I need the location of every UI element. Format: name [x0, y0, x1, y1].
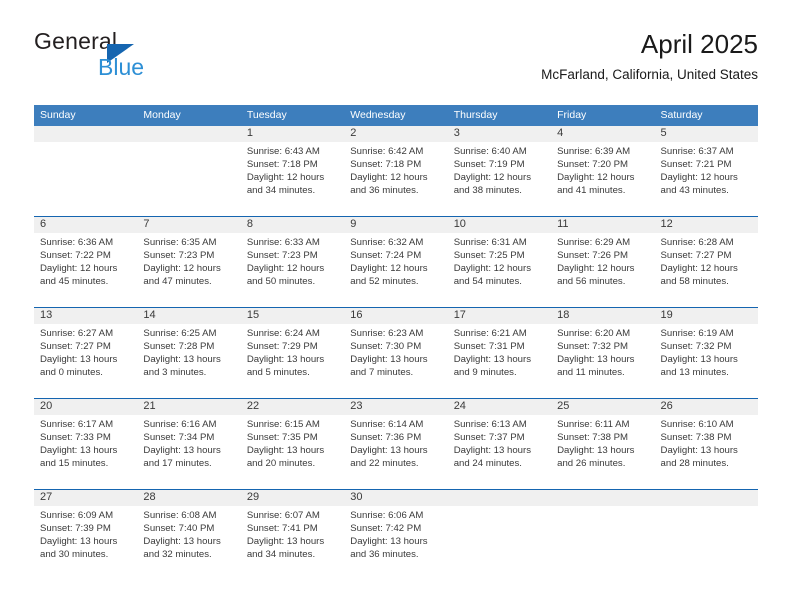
day-detail-line: Sunset: 7:18 PM — [247, 158, 341, 171]
day-detail-line: Daylight: 13 hours — [557, 353, 651, 366]
day-details: Sunrise: 6:27 AMSunset: 7:27 PMDaylight:… — [40, 327, 134, 379]
day-details: Sunrise: 6:42 AMSunset: 7:18 PMDaylight:… — [350, 145, 444, 197]
day-number: 18 — [557, 308, 651, 324]
calendar-day-cell[interactable]: 20Sunrise: 6:17 AMSunset: 7:33 PMDayligh… — [34, 399, 137, 489]
day-detail-line: and 54 minutes. — [454, 275, 548, 288]
day-detail-line: Sunset: 7:24 PM — [350, 249, 444, 262]
calendar-week-row: 20Sunrise: 6:17 AMSunset: 7:33 PMDayligh… — [34, 398, 758, 489]
day-details: Sunrise: 6:06 AMSunset: 7:42 PMDaylight:… — [350, 509, 444, 561]
day-detail-line: and 36 minutes. — [350, 184, 444, 197]
day-detail-line: and 41 minutes. — [557, 184, 651, 197]
calendar-empty-cell — [655, 490, 758, 580]
day-detail-line: Sunrise: 6:06 AM — [350, 509, 444, 522]
day-detail-line: Daylight: 13 hours — [247, 535, 341, 548]
day-detail-line: and 9 minutes. — [454, 366, 548, 379]
day-detail-line: Sunrise: 6:21 AM — [454, 327, 548, 340]
day-detail-line: Daylight: 13 hours — [40, 535, 134, 548]
day-number: 27 — [40, 490, 134, 506]
day-detail-line: Sunset: 7:32 PM — [661, 340, 755, 353]
calendar-day-cell[interactable]: 15Sunrise: 6:24 AMSunset: 7:29 PMDayligh… — [241, 308, 344, 398]
day-details: Sunrise: 6:32 AMSunset: 7:24 PMDaylight:… — [350, 236, 444, 288]
day-details: Sunrise: 6:23 AMSunset: 7:30 PMDaylight:… — [350, 327, 444, 379]
day-detail-line: and 11 minutes. — [557, 366, 651, 379]
day-detail-line: and 58 minutes. — [661, 275, 755, 288]
day-detail-line: Daylight: 13 hours — [350, 535, 444, 548]
day-details: Sunrise: 6:07 AMSunset: 7:41 PMDaylight:… — [247, 509, 341, 561]
calendar-empty-cell — [551, 490, 654, 580]
day-detail-line: and 17 minutes. — [143, 457, 237, 470]
day-detail-line: Sunrise: 6:37 AM — [661, 145, 755, 158]
calendar-week-cells: 1Sunrise: 6:43 AMSunset: 7:18 PMDaylight… — [34, 126, 758, 216]
calendar-week-cells: 27Sunrise: 6:09 AMSunset: 7:39 PMDayligh… — [34, 490, 758, 580]
day-detail-line: Daylight: 13 hours — [661, 444, 755, 457]
day-detail-line: Daylight: 13 hours — [40, 353, 134, 366]
day-detail-line: Sunrise: 6:29 AM — [557, 236, 651, 249]
day-detail-line: Sunrise: 6:40 AM — [454, 145, 548, 158]
day-detail-line: Daylight: 12 hours — [247, 171, 341, 184]
day-number: 24 — [454, 399, 548, 415]
day-details: Sunrise: 6:39 AMSunset: 7:20 PMDaylight:… — [557, 145, 651, 197]
day-detail-line: Daylight: 12 hours — [557, 171, 651, 184]
day-detail-line: Sunrise: 6:09 AM — [40, 509, 134, 522]
day-detail-line: and 38 minutes. — [454, 184, 548, 197]
brand-name-general: General — [34, 28, 117, 54]
day-detail-line: and 0 minutes. — [40, 366, 134, 379]
day-detail-line: Sunrise: 6:13 AM — [454, 418, 548, 431]
calendar-day-cell[interactable]: 29Sunrise: 6:07 AMSunset: 7:41 PMDayligh… — [241, 490, 344, 580]
day-detail-line: Daylight: 13 hours — [350, 444, 444, 457]
day-detail-line: and 5 minutes. — [247, 366, 341, 379]
calendar-week-cells: 13Sunrise: 6:27 AMSunset: 7:27 PMDayligh… — [34, 308, 758, 398]
page-title: April 2025 — [541, 28, 758, 60]
day-detail-line: Sunrise: 6:27 AM — [40, 327, 134, 340]
calendar-day-cell[interactable]: 18Sunrise: 6:20 AMSunset: 7:32 PMDayligh… — [551, 308, 654, 398]
calendar-week-row: 27Sunrise: 6:09 AMSunset: 7:39 PMDayligh… — [34, 489, 758, 580]
day-detail-line: and 43 minutes. — [661, 184, 755, 197]
day-number: 20 — [40, 399, 134, 415]
day-detail-line: Daylight: 12 hours — [40, 262, 134, 275]
day-detail-line: and 50 minutes. — [247, 275, 341, 288]
day-details: Sunrise: 6:20 AMSunset: 7:32 PMDaylight:… — [557, 327, 651, 379]
calendar-week-cells: 6Sunrise: 6:36 AMSunset: 7:22 PMDaylight… — [34, 217, 758, 307]
day-detail-line: Sunset: 7:21 PM — [661, 158, 755, 171]
weekday-header-saturday: Saturday — [655, 105, 758, 126]
weekday-header-thursday: Thursday — [448, 105, 551, 126]
day-detail-line: and 15 minutes. — [40, 457, 134, 470]
weekday-header-row: SundayMondayTuesdayWednesdayThursdayFrid… — [34, 105, 758, 126]
day-number: 9 — [350, 217, 444, 233]
day-detail-line: Sunrise: 6:07 AM — [247, 509, 341, 522]
day-detail-line: Daylight: 13 hours — [143, 353, 237, 366]
day-number: 5 — [661, 126, 755, 142]
day-detail-line: and 20 minutes. — [247, 457, 341, 470]
calendar-day-cell[interactable]: 27Sunrise: 6:09 AMSunset: 7:39 PMDayligh… — [34, 490, 137, 580]
weekday-header-wednesday: Wednesday — [344, 105, 447, 126]
day-detail-line: and 32 minutes. — [143, 548, 237, 561]
day-number: 7 — [143, 217, 237, 233]
calendar-day-cell[interactable]: 4Sunrise: 6:39 AMSunset: 7:20 PMDaylight… — [551, 126, 654, 216]
day-number — [143, 126, 237, 142]
day-detail-line: and 47 minutes. — [143, 275, 237, 288]
weekday-header-monday: Monday — [137, 105, 240, 126]
day-number: 22 — [247, 399, 341, 415]
day-number — [557, 490, 651, 506]
calendar-day-cell[interactable]: 16Sunrise: 6:23 AMSunset: 7:30 PMDayligh… — [344, 308, 447, 398]
day-detail-line: Sunset: 7:41 PM — [247, 522, 341, 535]
day-number: 21 — [143, 399, 237, 415]
day-detail-line: Sunset: 7:35 PM — [247, 431, 341, 444]
weekday-header-sunday: Sunday — [34, 105, 137, 126]
day-detail-line: and 52 minutes. — [350, 275, 444, 288]
day-detail-line: Daylight: 13 hours — [143, 444, 237, 457]
weekday-header-friday: Friday — [551, 105, 654, 126]
day-detail-line: Daylight: 13 hours — [661, 353, 755, 366]
calendar-day-cell[interactable]: 5Sunrise: 6:37 AMSunset: 7:21 PMDaylight… — [655, 126, 758, 216]
day-detail-line: Sunset: 7:36 PM — [350, 431, 444, 444]
day-detail-line: Sunrise: 6:17 AM — [40, 418, 134, 431]
day-detail-line: and 26 minutes. — [557, 457, 651, 470]
day-detail-line: and 34 minutes. — [247, 548, 341, 561]
calendar-day-cell[interactable]: 25Sunrise: 6:11 AMSunset: 7:38 PMDayligh… — [551, 399, 654, 489]
day-number: 3 — [454, 126, 548, 142]
day-detail-line: Daylight: 13 hours — [247, 353, 341, 366]
calendar-page: General Blue April 2025 McFarland, Calif… — [0, 0, 792, 612]
day-detail-line: Sunrise: 6:28 AM — [661, 236, 755, 249]
page-subtitle: McFarland, California, United States — [541, 66, 758, 83]
day-details: Sunrise: 6:17 AMSunset: 7:33 PMDaylight:… — [40, 418, 134, 470]
day-detail-line: Sunrise: 6:23 AM — [350, 327, 444, 340]
day-detail-line: Daylight: 12 hours — [143, 262, 237, 275]
calendar-weeks: 1Sunrise: 6:43 AMSunset: 7:18 PMDaylight… — [34, 126, 758, 580]
day-detail-line: Sunrise: 6:43 AM — [247, 145, 341, 158]
day-detail-line: Sunset: 7:22 PM — [40, 249, 134, 262]
day-number: 19 — [661, 308, 755, 324]
calendar-week-cells: 20Sunrise: 6:17 AMSunset: 7:33 PMDayligh… — [34, 399, 758, 489]
day-detail-line: Sunset: 7:34 PM — [143, 431, 237, 444]
day-detail-line: Daylight: 12 hours — [661, 262, 755, 275]
calendar-day-cell[interactable]: 6Sunrise: 6:36 AMSunset: 7:22 PMDaylight… — [34, 217, 137, 307]
calendar-day-cell[interactable]: 30Sunrise: 6:06 AMSunset: 7:42 PMDayligh… — [344, 490, 447, 580]
day-number: 12 — [661, 217, 755, 233]
day-detail-line: Daylight: 12 hours — [557, 262, 651, 275]
calendar-day-cell[interactable]: 24Sunrise: 6:13 AMSunset: 7:37 PMDayligh… — [448, 399, 551, 489]
day-detail-line: Sunset: 7:33 PM — [40, 431, 134, 444]
day-detail-line: Sunset: 7:42 PM — [350, 522, 444, 535]
calendar-day-cell[interactable]: 3Sunrise: 6:40 AMSunset: 7:19 PMDaylight… — [448, 126, 551, 216]
day-details: Sunrise: 6:21 AMSunset: 7:31 PMDaylight:… — [454, 327, 548, 379]
day-detail-line: and 24 minutes. — [454, 457, 548, 470]
day-details: Sunrise: 6:29 AMSunset: 7:26 PMDaylight:… — [557, 236, 651, 288]
weekday-header-tuesday: Tuesday — [241, 105, 344, 126]
day-number: 14 — [143, 308, 237, 324]
day-number: 11 — [557, 217, 651, 233]
day-detail-line: and 22 minutes. — [350, 457, 444, 470]
day-details: Sunrise: 6:25 AMSunset: 7:28 PMDaylight:… — [143, 327, 237, 379]
calendar-day-cell[interactable]: 28Sunrise: 6:08 AMSunset: 7:40 PMDayligh… — [137, 490, 240, 580]
day-detail-line: Sunset: 7:26 PM — [557, 249, 651, 262]
day-number: 8 — [247, 217, 341, 233]
day-detail-line: Sunset: 7:20 PM — [557, 158, 651, 171]
day-detail-line: Sunset: 7:25 PM — [454, 249, 548, 262]
day-detail-line: Sunrise: 6:24 AM — [247, 327, 341, 340]
day-details: Sunrise: 6:16 AMSunset: 7:34 PMDaylight:… — [143, 418, 237, 470]
day-detail-line: Daylight: 13 hours — [454, 444, 548, 457]
day-detail-line: Daylight: 12 hours — [350, 171, 444, 184]
day-details: Sunrise: 6:09 AMSunset: 7:39 PMDaylight:… — [40, 509, 134, 561]
day-number: 28 — [143, 490, 237, 506]
calendar-day-cell[interactable]: 14Sunrise: 6:25 AMSunset: 7:28 PMDayligh… — [137, 308, 240, 398]
day-details: Sunrise: 6:43 AMSunset: 7:18 PMDaylight:… — [247, 145, 341, 197]
day-detail-line: Sunset: 7:30 PM — [350, 340, 444, 353]
day-detail-line: Daylight: 13 hours — [247, 444, 341, 457]
day-number: 26 — [661, 399, 755, 415]
day-detail-line: and 34 minutes. — [247, 184, 341, 197]
day-details: Sunrise: 6:10 AMSunset: 7:38 PMDaylight:… — [661, 418, 755, 470]
day-number: 1 — [247, 126, 341, 142]
day-details: Sunrise: 6:14 AMSunset: 7:36 PMDaylight:… — [350, 418, 444, 470]
calendar-week-row: 6Sunrise: 6:36 AMSunset: 7:22 PMDaylight… — [34, 216, 758, 307]
day-detail-line: Sunset: 7:39 PM — [40, 522, 134, 535]
day-detail-line: Daylight: 12 hours — [454, 171, 548, 184]
calendar-empty-cell — [448, 490, 551, 580]
day-number — [454, 490, 548, 506]
day-detail-line: and 7 minutes. — [350, 366, 444, 379]
day-detail-line: Sunset: 7:27 PM — [40, 340, 134, 353]
day-number: 25 — [557, 399, 651, 415]
day-detail-line: Sunrise: 6:10 AM — [661, 418, 755, 431]
day-detail-line: Sunset: 7:38 PM — [661, 431, 755, 444]
day-number: 4 — [557, 126, 651, 142]
day-detail-line: Sunset: 7:32 PM — [557, 340, 651, 353]
day-detail-line: Daylight: 13 hours — [557, 444, 651, 457]
day-detail-line: Sunrise: 6:31 AM — [454, 236, 548, 249]
calendar-day-cell[interactable]: 17Sunrise: 6:21 AMSunset: 7:31 PMDayligh… — [448, 308, 551, 398]
day-detail-line: Sunrise: 6:25 AM — [143, 327, 237, 340]
day-detail-line: Sunset: 7:31 PM — [454, 340, 548, 353]
calendar-day-cell[interactable]: 19Sunrise: 6:19 AMSunset: 7:32 PMDayligh… — [655, 308, 758, 398]
calendar-day-cell[interactable]: 23Sunrise: 6:14 AMSunset: 7:36 PMDayligh… — [344, 399, 447, 489]
day-detail-line: and 13 minutes. — [661, 366, 755, 379]
day-detail-line: Sunrise: 6:32 AM — [350, 236, 444, 249]
day-detail-line: Sunrise: 6:36 AM — [40, 236, 134, 249]
day-detail-line: Sunset: 7:29 PM — [247, 340, 341, 353]
day-detail-line: and 45 minutes. — [40, 275, 134, 288]
calendar-day-cell[interactable]: 13Sunrise: 6:27 AMSunset: 7:27 PMDayligh… — [34, 308, 137, 398]
day-details: Sunrise: 6:33 AMSunset: 7:23 PMDaylight:… — [247, 236, 341, 288]
calendar-day-cell[interactable]: 12Sunrise: 6:28 AMSunset: 7:27 PMDayligh… — [655, 217, 758, 307]
calendar-day-cell[interactable]: 21Sunrise: 6:16 AMSunset: 7:34 PMDayligh… — [137, 399, 240, 489]
day-detail-line: Sunrise: 6:15 AM — [247, 418, 341, 431]
day-detail-line: Daylight: 13 hours — [454, 353, 548, 366]
brand-logo[interactable]: General Blue — [34, 28, 264, 84]
day-number — [40, 126, 134, 142]
day-details: Sunrise: 6:19 AMSunset: 7:32 PMDaylight:… — [661, 327, 755, 379]
day-detail-line: Sunset: 7:23 PM — [143, 249, 237, 262]
day-detail-line: Sunset: 7:27 PM — [661, 249, 755, 262]
day-detail-line: Sunrise: 6:11 AM — [557, 418, 651, 431]
day-details: Sunrise: 6:35 AMSunset: 7:23 PMDaylight:… — [143, 236, 237, 288]
day-detail-line: Sunrise: 6:35 AM — [143, 236, 237, 249]
day-number: 13 — [40, 308, 134, 324]
calendar-week-row: 1Sunrise: 6:43 AMSunset: 7:18 PMDaylight… — [34, 126, 758, 216]
day-detail-line: Daylight: 13 hours — [143, 535, 237, 548]
day-details: Sunrise: 6:13 AMSunset: 7:37 PMDaylight:… — [454, 418, 548, 470]
day-details: Sunrise: 6:36 AMSunset: 7:22 PMDaylight:… — [40, 236, 134, 288]
day-detail-line: Daylight: 12 hours — [350, 262, 444, 275]
day-number: 16 — [350, 308, 444, 324]
calendar-day-cell[interactable]: 8Sunrise: 6:33 AMSunset: 7:23 PMDaylight… — [241, 217, 344, 307]
day-detail-line: Sunrise: 6:16 AM — [143, 418, 237, 431]
day-number: 29 — [247, 490, 341, 506]
day-detail-line: Sunset: 7:18 PM — [350, 158, 444, 171]
day-number: 2 — [350, 126, 444, 142]
calendar-day-cell[interactable]: 1Sunrise: 6:43 AMSunset: 7:18 PMDaylight… — [241, 126, 344, 216]
day-number: 10 — [454, 217, 548, 233]
day-detail-line: Sunrise: 6:08 AM — [143, 509, 237, 522]
day-detail-line: Sunrise: 6:33 AM — [247, 236, 341, 249]
day-details: Sunrise: 6:28 AMSunset: 7:27 PMDaylight:… — [661, 236, 755, 288]
calendar-empty-cell — [137, 126, 240, 216]
day-detail-line: Sunrise: 6:42 AM — [350, 145, 444, 158]
day-detail-line: Sunset: 7:37 PM — [454, 431, 548, 444]
calendar-week-row: 13Sunrise: 6:27 AMSunset: 7:27 PMDayligh… — [34, 307, 758, 398]
day-details: Sunrise: 6:40 AMSunset: 7:19 PMDaylight:… — [454, 145, 548, 197]
day-number: 30 — [350, 490, 444, 506]
day-detail-line: Daylight: 13 hours — [40, 444, 134, 457]
calendar-grid: SundayMondayTuesdayWednesdayThursdayFrid… — [34, 105, 758, 580]
day-number: 6 — [40, 217, 134, 233]
day-detail-line: and 30 minutes. — [40, 548, 134, 561]
day-number: 17 — [454, 308, 548, 324]
day-details: Sunrise: 6:24 AMSunset: 7:29 PMDaylight:… — [247, 327, 341, 379]
day-detail-line: Sunset: 7:40 PM — [143, 522, 237, 535]
day-detail-line: and 56 minutes. — [557, 275, 651, 288]
day-details: Sunrise: 6:15 AMSunset: 7:35 PMDaylight:… — [247, 418, 341, 470]
day-details: Sunrise: 6:31 AMSunset: 7:25 PMDaylight:… — [454, 236, 548, 288]
day-number: 15 — [247, 308, 341, 324]
calendar-empty-cell — [34, 126, 137, 216]
calendar-day-cell[interactable]: 2Sunrise: 6:42 AMSunset: 7:18 PMDaylight… — [344, 126, 447, 216]
brand-name-blue: Blue — [98, 54, 144, 80]
day-detail-line: and 3 minutes. — [143, 366, 237, 379]
day-details: Sunrise: 6:37 AMSunset: 7:21 PMDaylight:… — [661, 145, 755, 197]
calendar-day-cell[interactable]: 7Sunrise: 6:35 AMSunset: 7:23 PMDaylight… — [137, 217, 240, 307]
page-header: General Blue April 2025 McFarland, Calif… — [34, 28, 758, 96]
calendar-day-cell[interactable]: 22Sunrise: 6:15 AMSunset: 7:35 PMDayligh… — [241, 399, 344, 489]
title-block: April 2025 McFarland, California, United… — [541, 28, 758, 83]
day-detail-line: Sunset: 7:28 PM — [143, 340, 237, 353]
day-detail-line: Sunrise: 6:39 AM — [557, 145, 651, 158]
day-detail-line: Sunrise: 6:20 AM — [557, 327, 651, 340]
day-detail-line: Sunrise: 6:14 AM — [350, 418, 444, 431]
calendar-day-cell[interactable]: 10Sunrise: 6:31 AMSunset: 7:25 PMDayligh… — [448, 217, 551, 307]
day-detail-line: Daylight: 13 hours — [350, 353, 444, 366]
day-detail-line: Sunset: 7:19 PM — [454, 158, 548, 171]
day-detail-line: Sunset: 7:23 PM — [247, 249, 341, 262]
day-detail-line: Sunset: 7:38 PM — [557, 431, 651, 444]
day-detail-line: Sunrise: 6:19 AM — [661, 327, 755, 340]
day-number: 23 — [350, 399, 444, 415]
day-detail-line: and 28 minutes. — [661, 457, 755, 470]
day-detail-line: Daylight: 12 hours — [454, 262, 548, 275]
day-detail-line: Daylight: 12 hours — [661, 171, 755, 184]
day-detail-line: Daylight: 12 hours — [247, 262, 341, 275]
day-details: Sunrise: 6:11 AMSunset: 7:38 PMDaylight:… — [557, 418, 651, 470]
day-number — [661, 490, 755, 506]
calendar-day-cell[interactable]: 9Sunrise: 6:32 AMSunset: 7:24 PMDaylight… — [344, 217, 447, 307]
calendar-day-cell[interactable]: 11Sunrise: 6:29 AMSunset: 7:26 PMDayligh… — [551, 217, 654, 307]
day-detail-line: and 36 minutes. — [350, 548, 444, 561]
calendar-day-cell[interactable]: 26Sunrise: 6:10 AMSunset: 7:38 PMDayligh… — [655, 399, 758, 489]
day-details: Sunrise: 6:08 AMSunset: 7:40 PMDaylight:… — [143, 509, 237, 561]
